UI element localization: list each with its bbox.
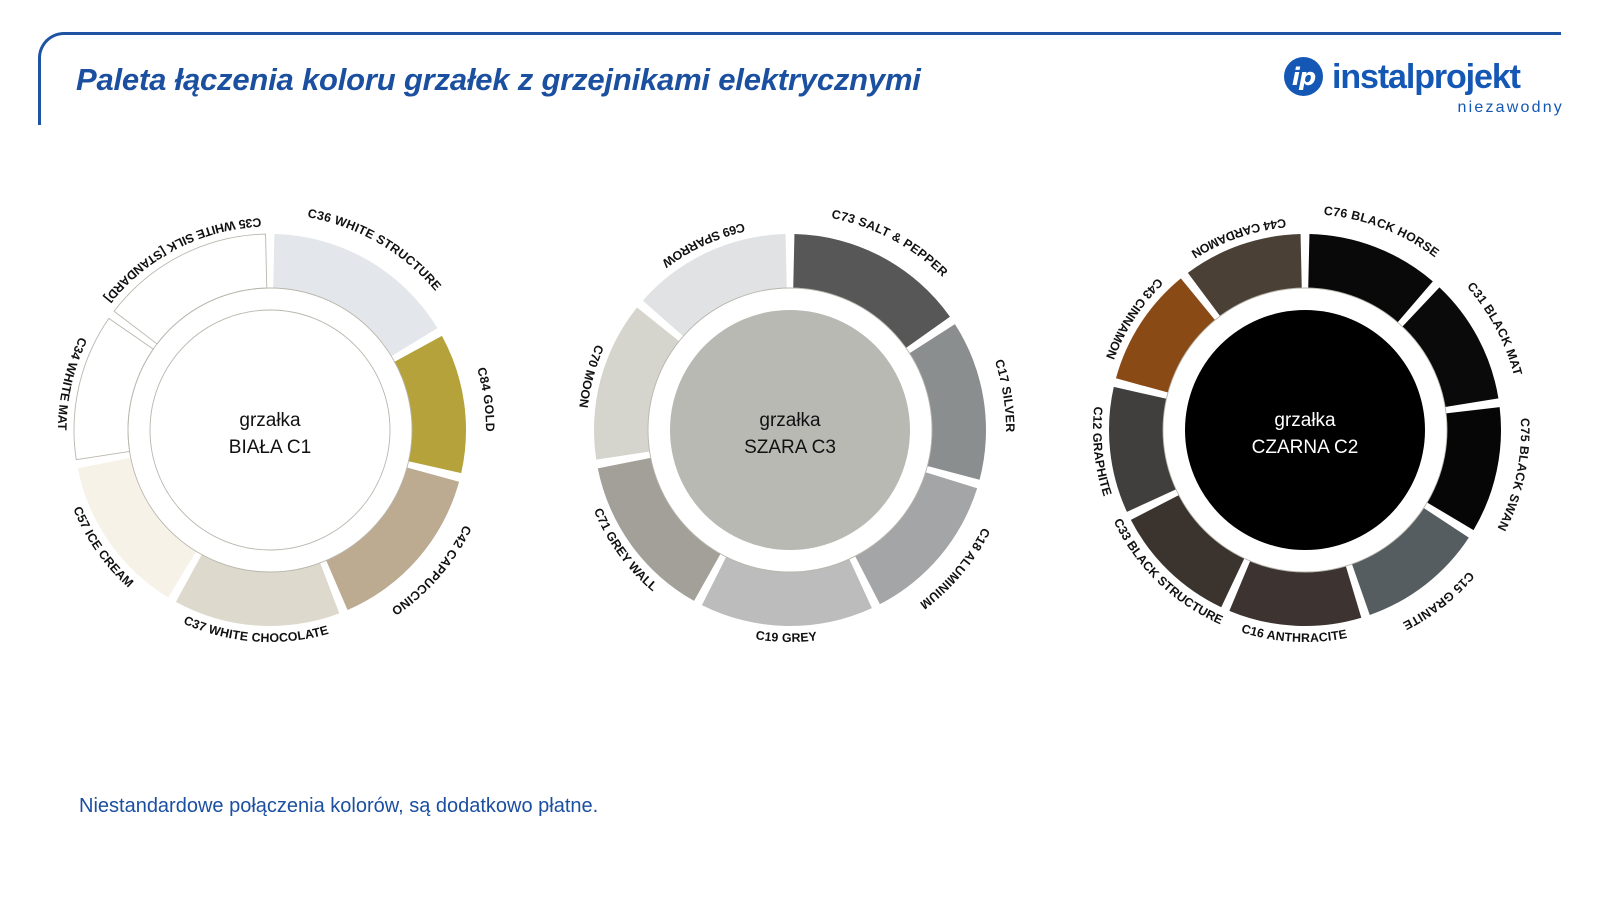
hub-label-bottom: SZARA C3 bbox=[744, 437, 836, 458]
instalprojekt-logo: ip instalprojekt niezawodny bbox=[1284, 57, 1566, 131]
donut-chart-white: C36 WHITE STRUCTUREC84 GOLDC42 CAPPUCCIN… bbox=[0, 150, 540, 710]
donut-svg-grey: C73 SALT & PEPPERC17 SILVERC18 ALUMINIUM… bbox=[520, 150, 1060, 710]
page-title: Paleta łączenia koloru grzałek z grzejni… bbox=[76, 62, 921, 98]
segment-label: C17 SILVER bbox=[992, 358, 1017, 433]
donut-segment[interactable]: C17 SILVER bbox=[909, 324, 1017, 480]
segment-swatch[interactable] bbox=[909, 324, 986, 480]
hub-label-top: grzałka bbox=[759, 410, 821, 431]
hub-label-bottom: CZARNA C2 bbox=[1252, 437, 1359, 458]
logo-wordmark: instalprojekt bbox=[1332, 60, 1520, 94]
donut-svg-black: C76 BLACK HORSEC31 BLACK MATC75 BLACK SW… bbox=[1035, 150, 1575, 710]
donut-segment[interactable]: C34 WHITE MAT bbox=[55, 318, 153, 459]
donut-segment[interactable]: C37 WHITE CHOCOLATE bbox=[176, 555, 339, 646]
hub-label-top: grzałka bbox=[239, 410, 301, 431]
infographic-page: Paleta łączenia koloru grzałek z grzejni… bbox=[0, 0, 1600, 900]
donut-segment[interactable]: C76 BLACK HORSE bbox=[1308, 204, 1442, 323]
segment-swatch[interactable] bbox=[594, 307, 679, 459]
segment-swatch[interactable] bbox=[176, 555, 339, 626]
ip-logo-icon: ip bbox=[1284, 57, 1323, 96]
donut-segment[interactable]: C75 BLACK SWAN bbox=[1427, 407, 1532, 533]
donut-segment[interactable]: C16 ANTHRACITE bbox=[1229, 561, 1361, 645]
donut-segment[interactable]: C43 CINNAMON bbox=[1103, 275, 1215, 392]
donut-segment[interactable]: C19 GREY bbox=[702, 557, 872, 645]
segment-swatch[interactable] bbox=[1109, 387, 1176, 512]
segment-label: C84 GOLD bbox=[474, 366, 497, 432]
segment-swatch[interactable] bbox=[395, 336, 466, 473]
segment-swatch[interactable] bbox=[1427, 407, 1501, 530]
donut-svg-white: C36 WHITE STRUCTUREC84 GOLDC42 CAPPUCCIN… bbox=[0, 150, 540, 710]
donut-chart-grey: C73 SALT & PEPPERC17 SILVERC18 ALUMINIUM… bbox=[520, 150, 1060, 710]
donut-segment[interactable]: C31 BLACK MAT bbox=[1402, 279, 1525, 407]
segment-label: C19 GREY bbox=[755, 628, 819, 645]
logo-row: ip instalprojekt bbox=[1284, 57, 1566, 96]
segment-swatch[interactable] bbox=[702, 557, 872, 626]
donut-segment[interactable]: C12 GRAPHITE bbox=[1090, 387, 1176, 512]
segment-swatch[interactable] bbox=[1229, 561, 1361, 626]
segment-swatch[interactable] bbox=[1308, 234, 1433, 322]
hub-label-top: grzałka bbox=[1274, 410, 1336, 431]
logo-tagline: niezawodny bbox=[1284, 99, 1564, 117]
donut-chart-black: C76 BLACK HORSEC31 BLACK MATC75 BLACK SW… bbox=[1035, 150, 1575, 710]
donut-segment[interactable]: C70 MOON bbox=[576, 307, 679, 459]
hub-label-bottom: BIAŁA C1 bbox=[229, 437, 311, 458]
footer-note: Niestandardowe połączenia kolorów, są do… bbox=[79, 795, 598, 818]
